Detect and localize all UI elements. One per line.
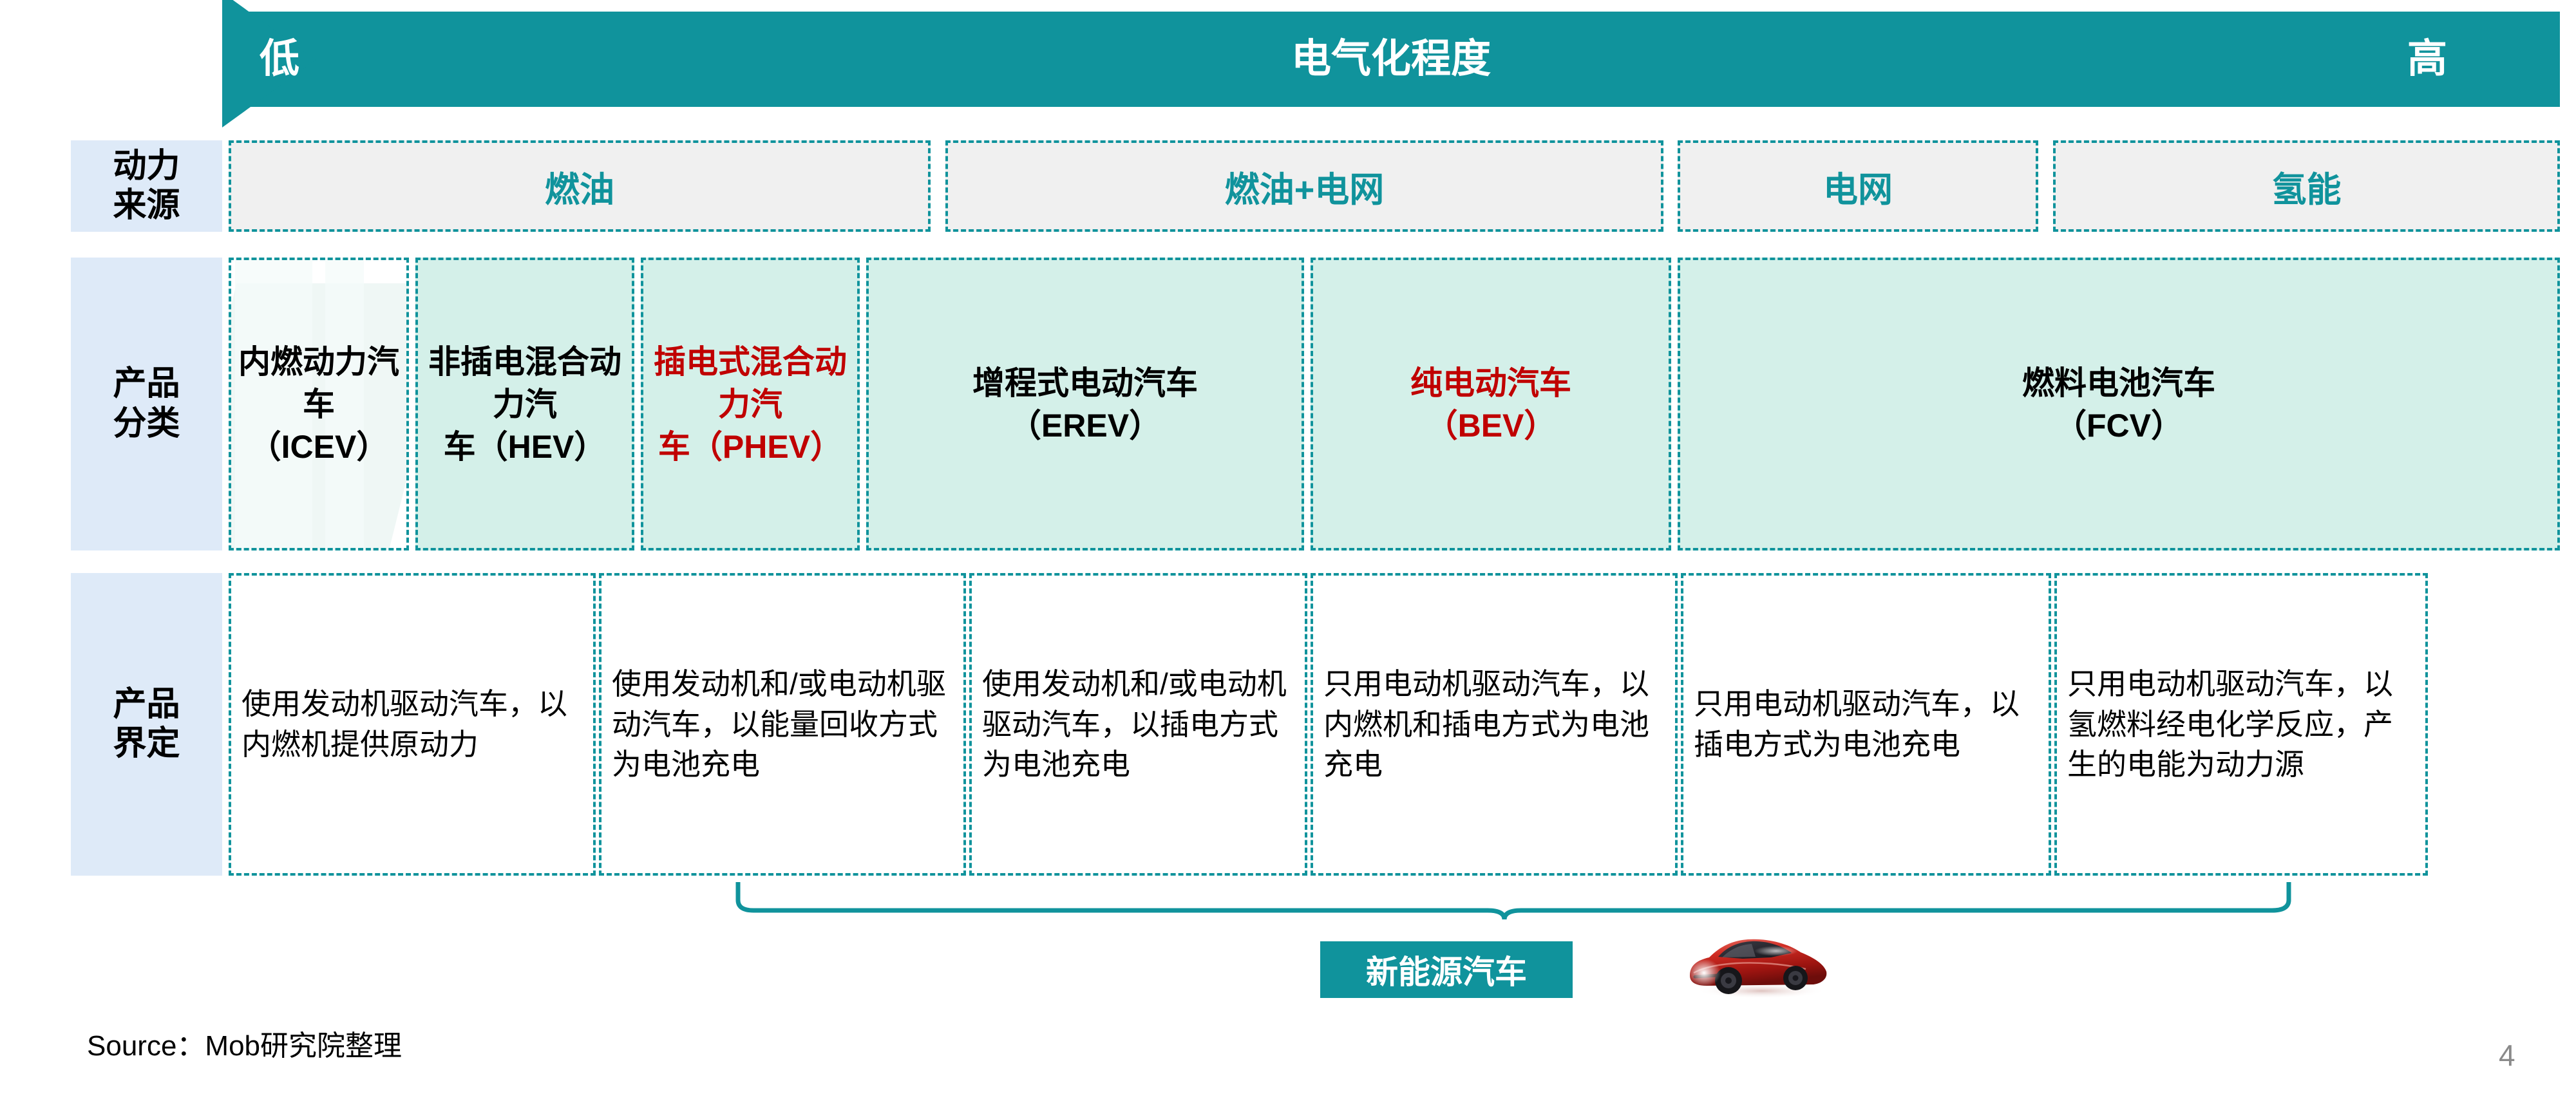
definition-text: 使用发动机和/或电动机驱动汽车，以能量回收方式为电池充电	[601, 664, 963, 785]
power-source-cell-fuel-grid[interactable]: 燃油+电网	[945, 140, 1663, 232]
power-source-cell-fuel[interactable]: 燃油	[229, 140, 931, 232]
definition-cell-fcv[interactable]: 只用电动机驱动汽车，以氢燃料经电化学反应，产生的电能为动力源	[2054, 573, 2428, 876]
nev-label-badge[interactable]: 新能源汽车	[1320, 941, 1573, 998]
nev-label-text: 新能源汽车	[1366, 946, 1527, 993]
nev-grouping-brace	[734, 881, 2293, 921]
power-source-label: 燃油	[545, 161, 614, 212]
category-cell-phev[interactable]: 插电式混合动力汽 车（PHEV）	[641, 258, 860, 550]
category-name-cn: 增程式电动汽车	[972, 362, 1198, 404]
slide-canvas: 低 电气化程度 高 动力 来源 产品 分类 产品 界定 燃油 燃油+电网 电网 …	[0, 0, 2576, 1101]
category-cell-hev[interactable]: 非插电混合动力汽 车（HEV）	[415, 258, 634, 550]
red-sports-car-photo	[1681, 929, 1835, 1000]
row-label-line1: 产品	[113, 685, 180, 724]
category-name-cn: 燃料电池汽车	[2022, 362, 2215, 404]
arrow-label-high: 高	[2407, 12, 2447, 107]
row-label-power-source: 动力 来源	[71, 140, 222, 232]
category-name-abbr: 车（HEV）	[418, 426, 632, 468]
definition-cell-erev[interactable]: 只用电动机驱动汽车，以内燃机和插电方式为电池充电	[1311, 573, 1678, 876]
category-name-abbr: （BEV）	[1410, 404, 1571, 447]
category-name-abbr: （FCV）	[2022, 404, 2215, 447]
row-label-product-category: 产品 分类	[71, 258, 222, 550]
power-source-label: 燃油+电网	[1225, 161, 1385, 212]
category-cell-bev[interactable]: 纯电动汽车 （BEV）	[1311, 258, 1671, 550]
definition-text: 只用电动机驱动汽车，以插电方式为电池充电	[1683, 684, 2049, 764]
row-label-line1: 动力	[113, 147, 180, 186]
row-label-product-definition: 产品 界定	[71, 573, 222, 876]
category-cell-icev[interactable]: 内燃动力汽车 （ICEV）	[229, 258, 409, 550]
definition-cell-bev[interactable]: 只用电动机驱动汽车，以插电方式为电池充电	[1681, 573, 2051, 876]
definition-text: 只用电动机驱动汽车，以氢燃料经电化学反应，产生的电能为动力源	[2057, 664, 2425, 785]
definition-text: 使用发动机驱动汽车，以内燃机提供原动力	[231, 684, 593, 764]
category-name-abbr: （EREV）	[972, 404, 1198, 447]
definition-cell-hev[interactable]: 使用发动机和/或电动机驱动汽车，以能量回收方式为电池充电	[599, 573, 966, 876]
definition-text: 使用发动机和/或电动机驱动汽车，以插电方式为电池充电	[972, 664, 1305, 785]
category-name-cn: 纯电动汽车	[1410, 362, 1571, 404]
page-number: 4	[2499, 1038, 2515, 1073]
power-source-label: 氢能	[2272, 161, 2342, 212]
row-label-line2: 分类	[113, 404, 180, 444]
definition-cell-icev[interactable]: 使用发动机驱动汽车，以内燃机提供原动力	[229, 573, 596, 876]
category-name-abbr: （ICEV）	[231, 426, 406, 468]
row-label-line2: 来源	[113, 186, 180, 225]
category-cell-fcv[interactable]: 燃料电池汽车 （FCV）	[1678, 258, 2560, 550]
power-source-cell-hydrogen[interactable]: 氢能	[2053, 140, 2560, 232]
category-cell-erev[interactable]: 增程式电动汽车 （EREV）	[866, 258, 1304, 550]
electrification-gradient-arrow: 低 电气化程度 高	[222, 12, 2576, 107]
definition-cell-phev[interactable]: 使用发动机和/或电动机驱动汽车，以插电方式为电池充电	[969, 573, 1307, 876]
category-name-cn: 非插电混合动力汽	[418, 341, 632, 426]
category-name-cn: 内燃动力汽车	[231, 341, 406, 426]
row-label-line2: 界定	[113, 724, 180, 764]
definition-text: 只用电动机驱动汽车，以内燃机和插电方式为电池充电	[1313, 664, 1675, 785]
row-label-line1: 产品	[113, 364, 180, 404]
power-source-label: 电网	[1823, 161, 1893, 212]
source-note: Source：Mob研究院整理	[87, 1022, 402, 1064]
category-name-cn: 插电式混合动力汽	[643, 341, 857, 426]
power-source-cell-grid[interactable]: 电网	[1678, 140, 2038, 232]
arrow-label-center: 电气化程度	[222, 12, 2560, 107]
category-name-abbr: 车（PHEV）	[643, 426, 857, 468]
